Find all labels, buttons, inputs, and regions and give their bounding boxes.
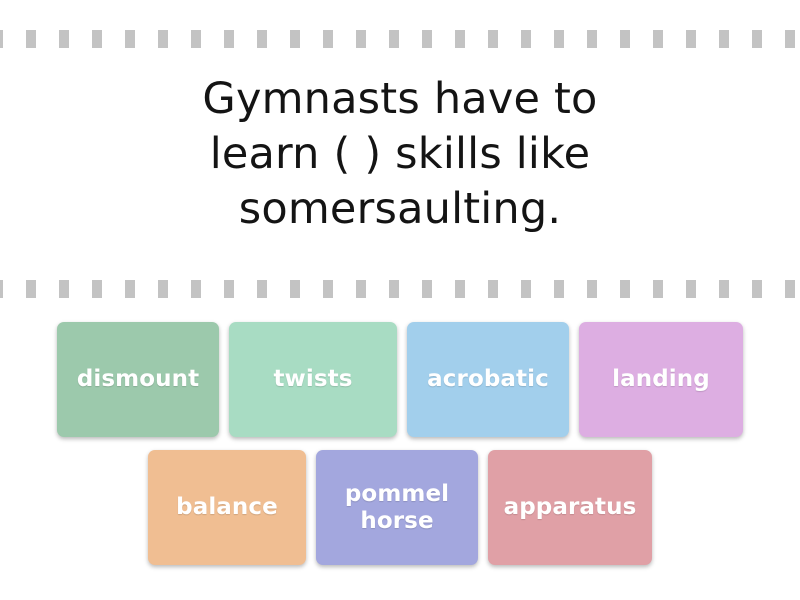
middle-dashed-separator bbox=[0, 280, 800, 298]
answer-tile-apparatus[interactable]: apparatus bbox=[488, 450, 652, 565]
answer-tile-label: dismount bbox=[77, 366, 199, 393]
answer-tile-landing[interactable]: landing bbox=[579, 322, 743, 437]
answer-tile-pommel-horse[interactable]: pommel horse bbox=[316, 450, 478, 565]
answer-row-top: dismount twists acrobatic landing bbox=[0, 322, 800, 437]
top-dashed-separator bbox=[0, 30, 800, 48]
answer-tile-label: landing bbox=[612, 366, 710, 393]
answer-tile-label: twists bbox=[273, 366, 352, 393]
answer-tile-label: pommel horse bbox=[345, 481, 449, 535]
answer-tile-label: balance bbox=[176, 494, 278, 521]
answer-tile-acrobatic[interactable]: acrobatic bbox=[407, 322, 569, 437]
answer-tile-twists[interactable]: twists bbox=[229, 322, 397, 437]
question-prompt: Gymnasts have to learn ( ) skills like s… bbox=[50, 72, 750, 237]
answer-tile-label: apparatus bbox=[504, 494, 637, 521]
answer-tile-dismount[interactable]: dismount bbox=[57, 322, 219, 437]
answer-row-bottom: balance pommel horse apparatus bbox=[0, 450, 800, 565]
activity-stage: Gymnasts have to learn ( ) skills like s… bbox=[0, 0, 800, 600]
answer-tile-label: acrobatic bbox=[427, 366, 549, 393]
answer-tile-balance[interactable]: balance bbox=[148, 450, 306, 565]
